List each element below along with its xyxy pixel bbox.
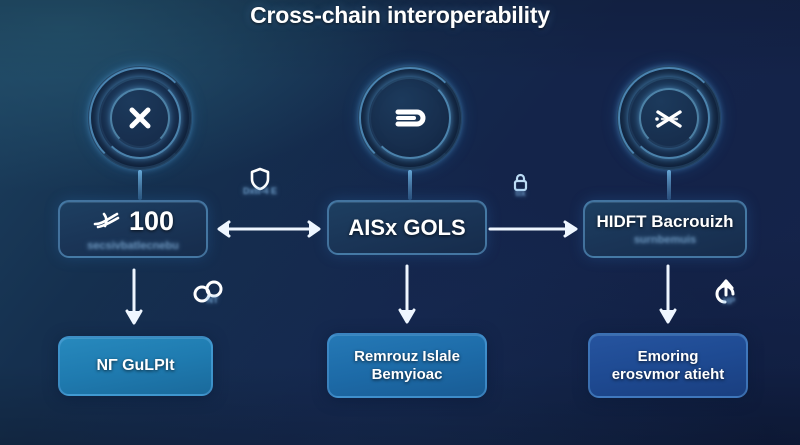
page-title: Cross-chain interoperability — [0, 2, 800, 29]
node-stem — [138, 170, 142, 200]
refresh-up-badge-label: HP — [723, 296, 736, 306]
refresh-up-badge: HP — [712, 278, 738, 306]
node-icon-right — [617, 66, 721, 170]
lock-badge-label: tix — [515, 188, 526, 198]
down-arrow-right — [658, 264, 678, 330]
bottom-box-center-line1: Remrouz Islale — [354, 348, 460, 365]
crossed-tools-icon — [617, 66, 721, 170]
lock-badge: tix — [511, 172, 530, 198]
cross-x-icon — [88, 66, 192, 170]
bottom-box-center[interactable]: Remrouz Islale Bemyioac — [327, 333, 487, 398]
mid-box-left[interactable]: 100 secsivbatlecnebu — [58, 200, 208, 258]
mid-box-left-headline-row: 100 — [92, 206, 174, 237]
shield-badge: Dxtt-4 E — [243, 167, 277, 196]
node-icon-left — [88, 66, 192, 170]
right-arrow-center — [488, 219, 584, 239]
rounded-arrow-icon — [358, 66, 462, 170]
bottom-box-right-line1: Emoring — [638, 348, 699, 365]
mid-box-right-headline: HIDFT Bacrouizh — [597, 212, 734, 231]
bottom-box-left[interactable]: NΓ GuLPlt — [58, 336, 213, 396]
mid-box-right[interactable]: HIDFT Bacrouizh surnbemuis — [583, 200, 747, 258]
bird-swoosh-icon — [92, 210, 122, 232]
down-arrow-left — [124, 268, 144, 330]
mid-box-left-subline: secsivbatlecnebu — [87, 240, 179, 252]
mid-box-center[interactable]: AISx GOLS — [327, 200, 487, 255]
bottom-box-center-line2: Bemyioac — [372, 366, 443, 383]
mid-box-right-subline: surnbemuis — [634, 234, 696, 246]
node-stem — [667, 170, 671, 200]
bottom-box-left-line1: NΓ GuLPlt — [96, 357, 174, 375]
chain-link-badge-label: NT — [207, 295, 219, 305]
bidirectional-arrow-left — [209, 219, 329, 239]
mid-box-center-headline: AISx GOLS — [348, 215, 465, 240]
diagram-canvas: Cross-chain interoperability — [0, 0, 800, 445]
down-arrow-center — [397, 264, 417, 330]
chain-link-badge: NT — [191, 280, 225, 305]
node-stem — [408, 170, 412, 200]
bottom-box-right-line2: erosvmor atieht — [612, 366, 725, 383]
node-icon-center — [358, 66, 462, 170]
bottom-box-right[interactable]: Emoring erosvmor atieht — [588, 333, 748, 398]
shield-badge-label: Dxtt-4 E — [243, 186, 277, 196]
mid-box-left-headline: 100 — [129, 206, 174, 237]
